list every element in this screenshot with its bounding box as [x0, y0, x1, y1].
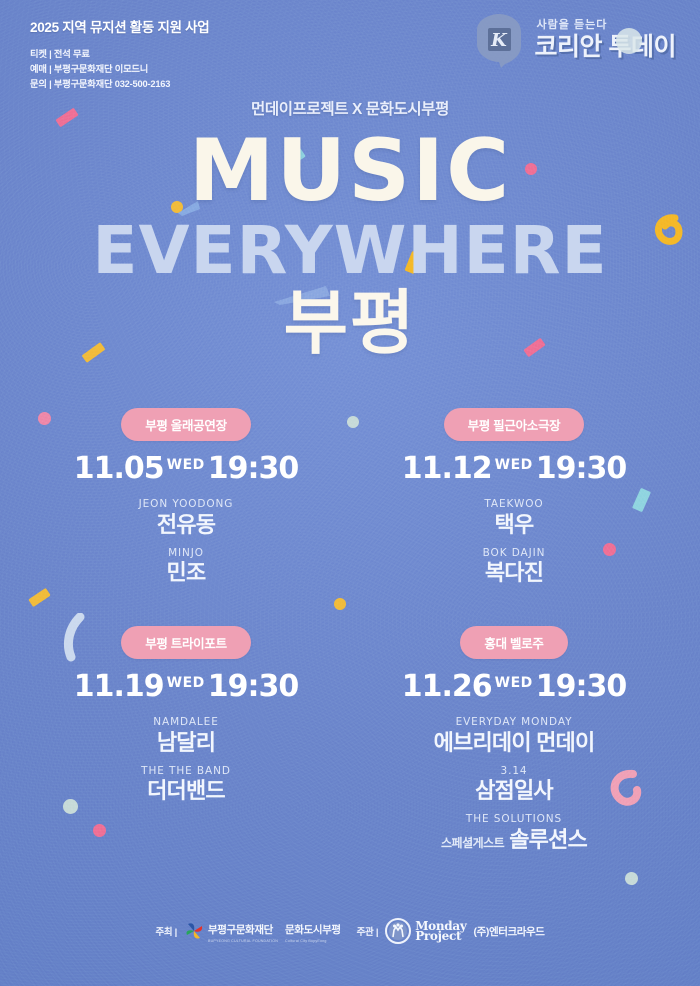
organizer-credit-group: 주관 | Monday Project (주)엔터크라우드 — [357, 918, 545, 944]
artist-name-en: MINJO — [22, 546, 350, 561]
footer-credits: 주최 | 부평구문화재단 BUPYEONG CULTURAL FOUNDATIO… — [0, 918, 700, 944]
event-date-number: 11.26 — [402, 669, 492, 704]
event-datetime: 11.19WED19:30 — [22, 672, 350, 702]
event-card: 홍대 벨로주11.26WED19:30EVERYDAY MONDAY에브리데이 … — [350, 626, 678, 861]
event-time: 19:30 — [536, 451, 627, 486]
monday-wordmark-line2: Project — [415, 931, 466, 941]
event-weekday: WED — [495, 457, 533, 473]
artist-entry: BOK DAJIN복다진 — [350, 546, 678, 588]
artist-name-kr: 복다진 — [350, 560, 678, 587]
event-weekday: WED — [167, 457, 205, 473]
header-line-contact: 문의 | 부평구문화재단 032-500-2163 — [30, 77, 209, 92]
artist-entry: JEON YOODONG전유동 — [22, 497, 350, 539]
event-weekday: WED — [495, 675, 533, 691]
svg-text:K: K — [490, 30, 508, 51]
event-list: 부평 올래공연장11.05WED19:30JEON YOODONG전유동MINJ… — [22, 408, 678, 861]
poster-canvas: 2025 지역 뮤지션 활동 지원 사업 티켓 | 전석 무료 예매 | 부평구… — [0, 0, 700, 986]
artist-name-kr: 삼점일사 — [350, 778, 678, 805]
brand-tagline: 사람을 듣는다 — [537, 20, 676, 31]
artist-entry: NAMDALEE남달리 — [22, 715, 350, 757]
collaboration-line: 먼데이프로젝트 X 문화도시부평 — [0, 97, 700, 119]
korean-today-shield-icon: K — [473, 12, 525, 68]
brand-name: 코리안 투데이 — [535, 35, 676, 60]
logo-entercloud: (주)엔터크라우드 — [474, 924, 545, 939]
event-date-number: 11.05 — [74, 451, 164, 486]
event-time: 19:30 — [536, 669, 627, 704]
artist-name-kr: 남달리 — [22, 730, 350, 757]
venue-badge[interactable]: 부평 올래공연장 — [121, 408, 251, 441]
artist-entry: EVERYDAY MONDAY에브리데이 먼데이 — [350, 715, 678, 757]
artist-entry: THE SOLUTIONS스페셜게스트솔루션스 — [350, 812, 678, 854]
logo-cultural-city-bupyeong: 문화도시부평 Cultural City BupyEong — [285, 920, 341, 943]
venue-badge[interactable]: 부평 트라이포트 — [121, 626, 251, 659]
artist-name-kr: 에브리데이 먼데이 — [350, 730, 678, 757]
artist-guest-name: 솔루션스 — [509, 827, 587, 852]
artist-entry: THE THE BAND더더밴드 — [22, 764, 350, 806]
artist-entry: 3.14삼점일사 — [350, 764, 678, 806]
organizer-logo-name-1: (주)엔터크라우드 — [474, 924, 545, 939]
artist-name-en: 3.14 — [350, 764, 678, 779]
artist-name-kr: 택우 — [350, 512, 678, 539]
host-logo-name-0: 부평구문화재단 — [208, 924, 273, 936]
host-logo-sub-0: BUPYEONG CULTURAL FOUNDATION — [208, 939, 278, 943]
brand-accent-blob — [616, 28, 642, 54]
artist-guest-prefix: 스페셜게스트 — [441, 836, 504, 850]
event-card: 부평 올래공연장11.05WED19:30JEON YOODONG전유동MINJ… — [22, 408, 350, 594]
artist-name-en: THE SOLUTIONS — [350, 812, 678, 827]
event-weekday: WED — [167, 675, 205, 691]
artist-entry: MINJO민조 — [22, 546, 350, 588]
sage-dot-right-lower — [625, 872, 638, 885]
brand-logo-group: K 사람을 듣는다 코리안 투데이 — [473, 12, 676, 68]
page-title: 2025 지역 뮤지션 활동 지원 사업 — [30, 16, 209, 36]
host-logo-name-1: 문화도시부평 — [285, 924, 341, 936]
artist-name-kr: 스페셜게스트솔루션스 — [350, 827, 678, 854]
event-datetime: 11.26WED19:30 — [350, 672, 678, 702]
monday-project-circle-icon — [385, 918, 411, 944]
artist-name-en: JEON YOODONG — [22, 497, 350, 512]
artist-name-en: BOK DAJIN — [350, 546, 678, 561]
venue-badge[interactable]: 홍대 벨로주 — [460, 626, 567, 659]
logo-monday-project: Monday Project — [385, 918, 466, 944]
event-date-number: 11.12 — [402, 451, 492, 486]
host-label: 주최 | — [155, 924, 177, 938]
header-line-ticket: 티켓 | 전석 무료 — [30, 47, 209, 62]
artist-name-en: EVERYDAY MONDAY — [350, 715, 678, 730]
header-info-block: 2025 지역 뮤지션 활동 지원 사업 티켓 | 전석 무료 예매 | 부평구… — [30, 16, 209, 92]
artist-name-en: THE THE BAND — [22, 764, 350, 779]
host-logo-sub-1: Cultural City BupyEong — [285, 939, 341, 943]
artist-name-kr: 더더밴드 — [22, 778, 350, 805]
host-credit-group: 주최 | 부평구문화재단 BUPYEONG CULTURAL FOUNDATIO… — [155, 920, 340, 943]
bupyeong-foundation-pinwheel-icon — [184, 921, 204, 941]
artist-name-en: NAMDALEE — [22, 715, 350, 730]
organizer-label: 주관 | — [357, 924, 379, 938]
title-word-everywhere: EVERYWHERE — [0, 218, 700, 284]
event-time: 19:30 — [208, 451, 299, 486]
title-word-music: MUSIC — [0, 128, 700, 214]
event-datetime: 11.12WED19:30 — [350, 454, 678, 484]
logo-bupyeong-foundation: 부평구문화재단 BUPYEONG CULTURAL FOUNDATION — [184, 920, 278, 943]
event-date-number: 11.19 — [74, 669, 164, 704]
title-word-bupyeong: 부평 — [0, 288, 700, 358]
monday-project-wordmark: Monday Project — [415, 921, 466, 941]
artist-name-en: TAEKWOO — [350, 497, 678, 512]
event-time: 19:30 — [208, 669, 299, 704]
header-line-reservation: 예매 | 부평구문화재단 이모드니 — [30, 62, 209, 77]
event-card: 부평 트라이포트11.19WED19:30NAMDALEE남달리THE THE … — [22, 626, 350, 861]
artist-name-kr: 전유동 — [22, 512, 350, 539]
event-card: 부평 필근아소극장11.12WED19:30TAEKWOO택우BOK DAJIN… — [350, 408, 678, 594]
artist-entry: TAEKWOO택우 — [350, 497, 678, 539]
event-datetime: 11.05WED19:30 — [22, 454, 350, 484]
artist-name-kr: 민조 — [22, 560, 350, 587]
venue-badge[interactable]: 부평 필근아소극장 — [444, 408, 585, 441]
